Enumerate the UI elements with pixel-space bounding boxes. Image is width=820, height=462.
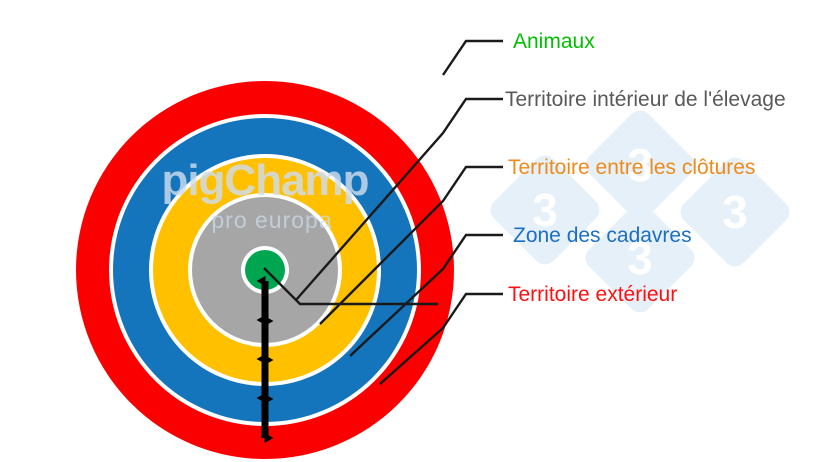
- watermark-brand-primary: pigChamp: [161, 156, 368, 205]
- leader-line-animaux-upper: [443, 41, 503, 75]
- zone-label-territoire-exterieur: Territoire extérieur: [508, 283, 677, 306]
- watermark-brand-secondary: pro europa: [211, 207, 332, 233]
- watermark-badge-label: 3: [722, 186, 748, 238]
- zone-label-zone-cadavres: Zone des cadavres: [513, 224, 692, 247]
- zone-label-territoire-clotures: Territoire entre les clôtures: [508, 156, 755, 179]
- diagram-canvas: 3 3 3 3: [0, 0, 820, 462]
- zone-label-territoire-interieur: Territoire intérieur de l'élevage: [505, 88, 786, 111]
- zone-label-animaux: Animaux: [513, 30, 595, 53]
